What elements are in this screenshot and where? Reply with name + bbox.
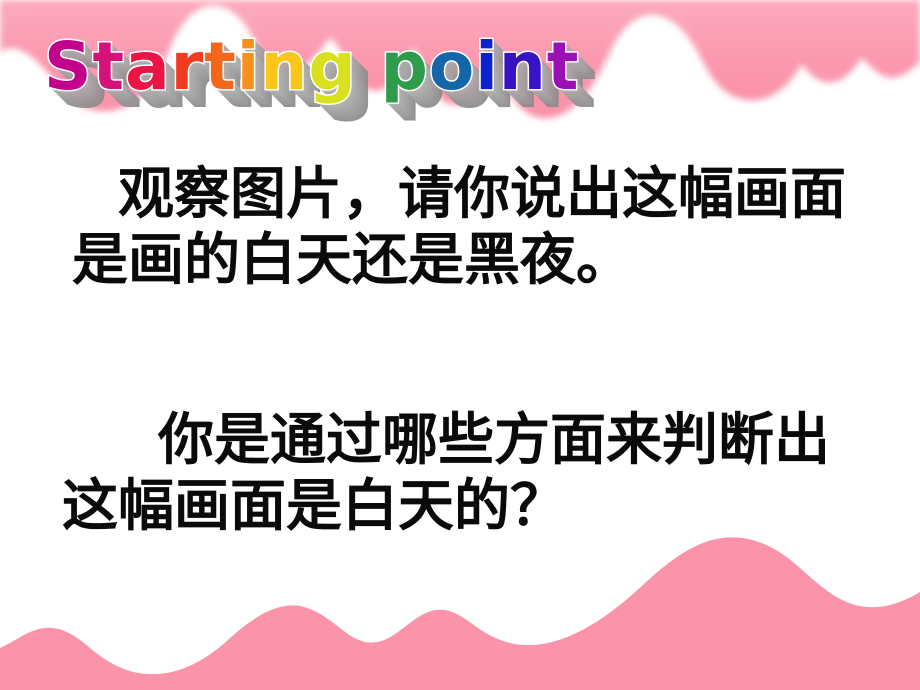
title-letter [357,28,381,105]
title-text: Starting point [44,28,684,106]
title-letter: o [429,28,475,105]
title-letter: t [93,28,126,105]
title-letter: n [499,28,547,105]
title-letter: a [125,28,171,105]
question-paragraph-2: 你是通过哪些方面来判断出这幅画面是白天的？ [62,408,872,540]
title-letter: i [237,28,261,105]
title-letter: g [308,28,356,105]
title-letter: S [44,28,93,105]
title-letter: t [204,28,237,105]
question-paragraph-1: 观察图片，请你说出这幅画面是画的白天还是黑夜。 [72,162,862,294]
title-letter: r [171,28,205,105]
slide-canvas: Starting point Starting point 观察图片，请你说出这… [0,0,920,690]
slide-title: Starting point Starting point [44,28,684,114]
bottom-wave-decoration [0,530,920,690]
title-letter: n [260,28,308,105]
title-letter: t [547,28,580,105]
title-letter: i [475,28,499,105]
title-letter: p [381,28,429,105]
